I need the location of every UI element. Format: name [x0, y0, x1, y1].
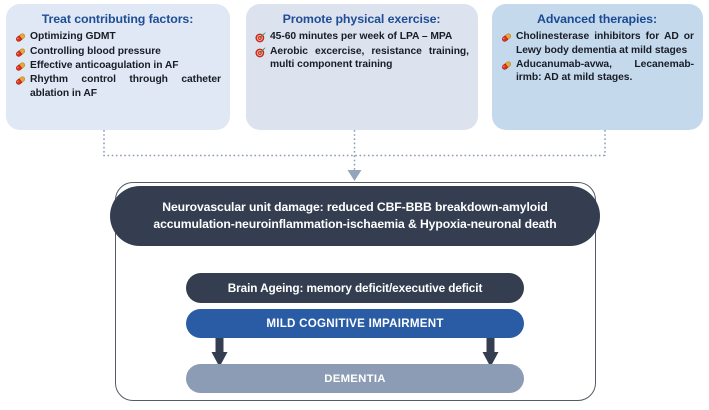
- diagram-canvas: Treat contributing factors: Optimizing G…: [0, 0, 709, 410]
- node-brain-ageing: Brain Ageing: memory deficit/executive d…: [186, 273, 524, 303]
- node-label: MILD COGNITIVE IMPAIRMENT: [266, 317, 443, 330]
- node-dementia: DEMENTIA: [186, 364, 524, 393]
- node-neurovascular-unit-damage: Neurovascular unit damage: reduced CBF-B…: [110, 186, 600, 246]
- dotted-connector-group: [0, 0, 709, 190]
- node-label: DEMENTIA: [324, 373, 385, 385]
- node-mild-cognitive-impairment: MILD COGNITIVE IMPAIRMENT: [186, 309, 524, 338]
- connector-arrowhead: [348, 170, 362, 181]
- node-label: Brain Ageing: memory deficit/executive d…: [228, 281, 483, 295]
- node-label: Neurovascular unit damage: reduced CBF-B…: [136, 199, 574, 234]
